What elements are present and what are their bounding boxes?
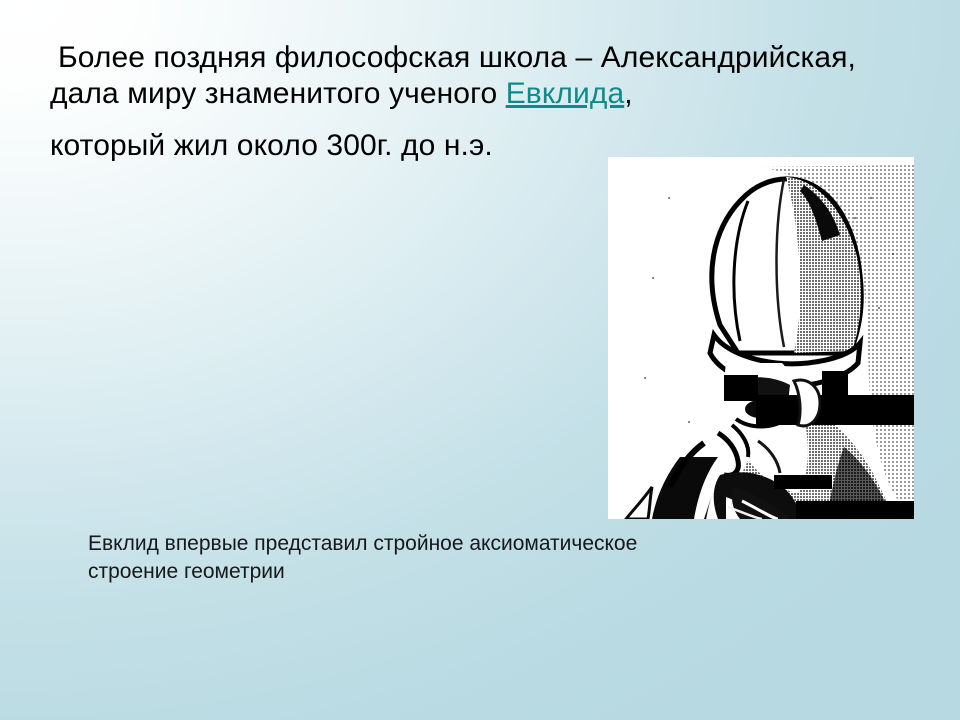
portrait-caption: Евклид впервые представил стройное аксио…: [88, 530, 818, 586]
caption-line-1: Евклид впервые представил стройное аксио…: [88, 530, 818, 558]
euclid-hyperlink[interactable]: Евклида: [506, 77, 625, 110]
caption-line-2: строение геометрии: [88, 558, 818, 586]
body-line-2-suffix: ,: [624, 77, 632, 110]
euclid-portrait-image: [608, 157, 914, 519]
body-line-2: дала миру знаменитого ученого Евклида,: [50, 76, 930, 112]
body-line-2-prefix: дала миру знаменитого ученого: [50, 77, 506, 110]
euclid-portrait-artwork: [608, 157, 914, 519]
slide-canvas: Более поздняя философская школа – Алекса…: [0, 0, 960, 720]
slide-body-text: Более поздняя философская школа – Алекса…: [50, 40, 930, 164]
body-line-1: Более поздняя философская школа – Алекса…: [50, 40, 930, 76]
